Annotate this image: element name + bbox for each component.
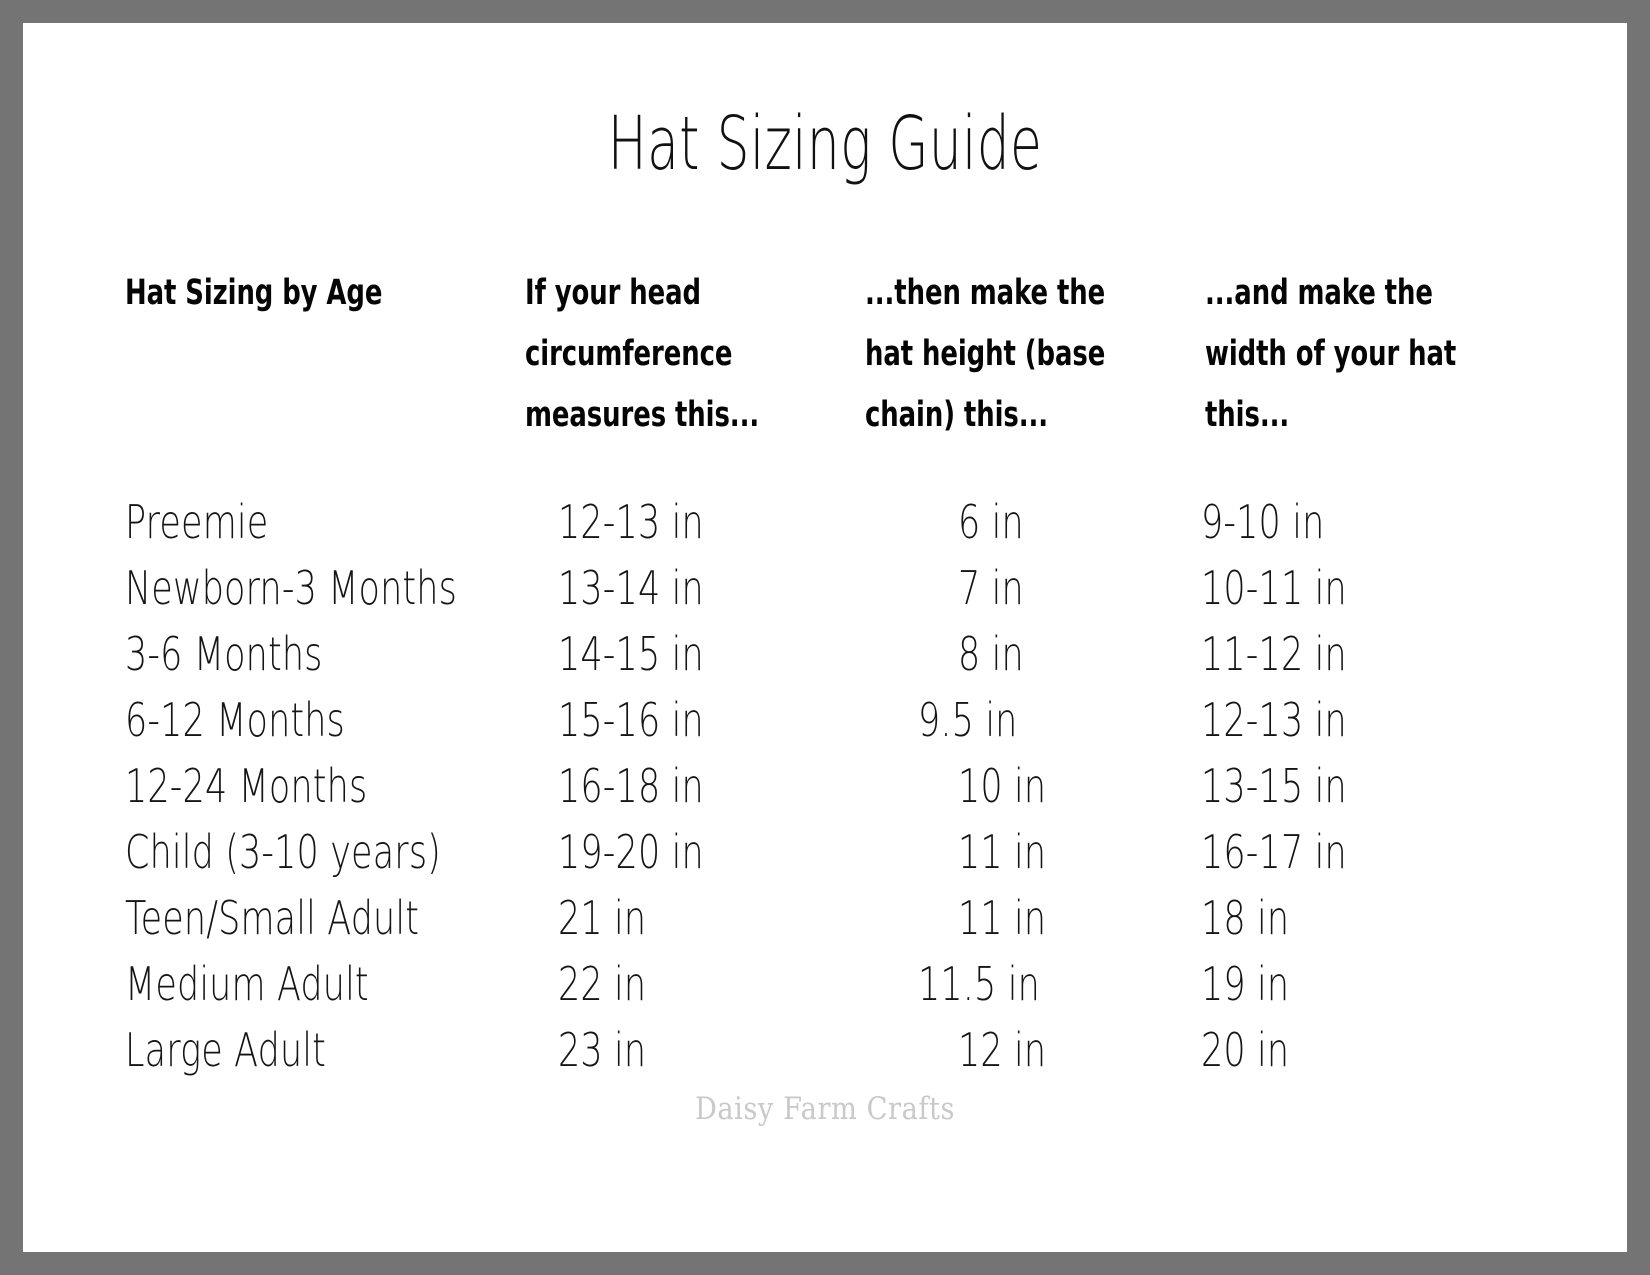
table-row: Preemie12-13 in6 in9-10 in [23,489,1627,555]
cell-hat-width: 11-12 in [1201,621,1520,687]
cell-age-group: Teen/Small Adult [125,885,596,951]
cell-age-group: Preemie [125,489,596,555]
cell-head-circumference: 23 in [558,1017,877,1083]
cell-hat-width: 18 in [1201,885,1520,951]
watermark: Daisy Farm Crafts [119,1091,1531,1127]
table-row: Child (3-10 years)19-20 in11 in16-17 in [23,819,1627,885]
column-header-age-group: Hat Sizing by Age [125,263,539,324]
cell-hat-width: 16-17 in [1201,819,1520,885]
column-header-line: chain) this... [865,385,1191,446]
table-row: 3-6 Months14-15 in8 in11-12 in [23,621,1627,687]
cell-head-circumference: 21 in [558,885,877,951]
column-header-head-circumference: If your headcircumferencemeasures this..… [525,263,865,446]
cell-age-group: 6-12 Months [125,687,596,753]
cell-hat-width: 13-15 in [1201,753,1520,819]
column-header-line: this... [1205,385,1553,446]
column-header-line: Hat Sizing by Age [125,263,539,324]
cell-hat-height: 11.5 in [918,951,1207,1017]
cell-head-circumference: 12-13 in [558,489,877,555]
cell-hat-width: 19 in [1201,951,1520,1017]
cell-head-circumference: 22 in [558,951,877,1017]
column-header-line: circumference [525,324,865,385]
column-header-line: ...then make the [865,263,1191,324]
page-border: Hat Sizing Guide Hat Sizing by AgeIf you… [0,0,1650,1275]
column-header-line: hat height (base [865,324,1191,385]
cell-age-group: 3-6 Months [125,621,596,687]
cell-age-group: Newborn-3 Months [125,555,596,621]
table-row: 6-12 Months15-16 in9.5 in12-13 in [23,687,1627,753]
table-row: Teen/Small Adult21 in11 in18 in [23,885,1627,951]
cell-head-circumference: 16-18 in [558,753,877,819]
cell-head-circumference: 15-16 in [558,687,877,753]
cell-age-group: 12-24 Months [125,753,596,819]
cell-age-group: Medium Adult [125,951,596,1017]
cell-head-circumference: 19-20 in [558,819,877,885]
column-header-line: measures this... [525,385,865,446]
column-header-hat-height: ...then make thehat height (basechain) t… [865,263,1191,446]
table-row: Large Adult23 in12 in20 in [23,1017,1627,1083]
content-card: Hat Sizing Guide Hat Sizing by AgeIf you… [23,23,1627,1252]
cell-hat-width: 12-13 in [1201,687,1520,753]
column-header-line: If your head [525,263,865,324]
cell-hat-width: 9-10 in [1201,489,1520,555]
table-row: Newborn-3 Months13-14 in7 in10-11 in [23,555,1627,621]
cell-head-circumference: 14-15 in [558,621,877,687]
column-header-hat-width: ...and make thewidth of your hatthis... [1205,263,1553,446]
cell-hat-width: 20 in [1201,1017,1520,1083]
table-row: Medium Adult22 in11.5 in19 in [23,951,1627,1017]
hat-sizing-table: Hat Sizing by AgeIf your headcircumferen… [23,23,1627,1252]
cell-head-circumference: 13-14 in [558,555,877,621]
cell-hat-height: 9.5 in [918,687,1207,753]
column-header-line: ...and make the [1205,263,1553,324]
column-header-line: width of your hat [1205,324,1553,385]
table-row: 12-24 Months16-18 in10 in13-15 in [23,753,1627,819]
cell-age-group: Large Adult [125,1017,596,1083]
cell-hat-width: 10-11 in [1201,555,1520,621]
cell-age-group: Child (3-10 years) [125,819,596,885]
